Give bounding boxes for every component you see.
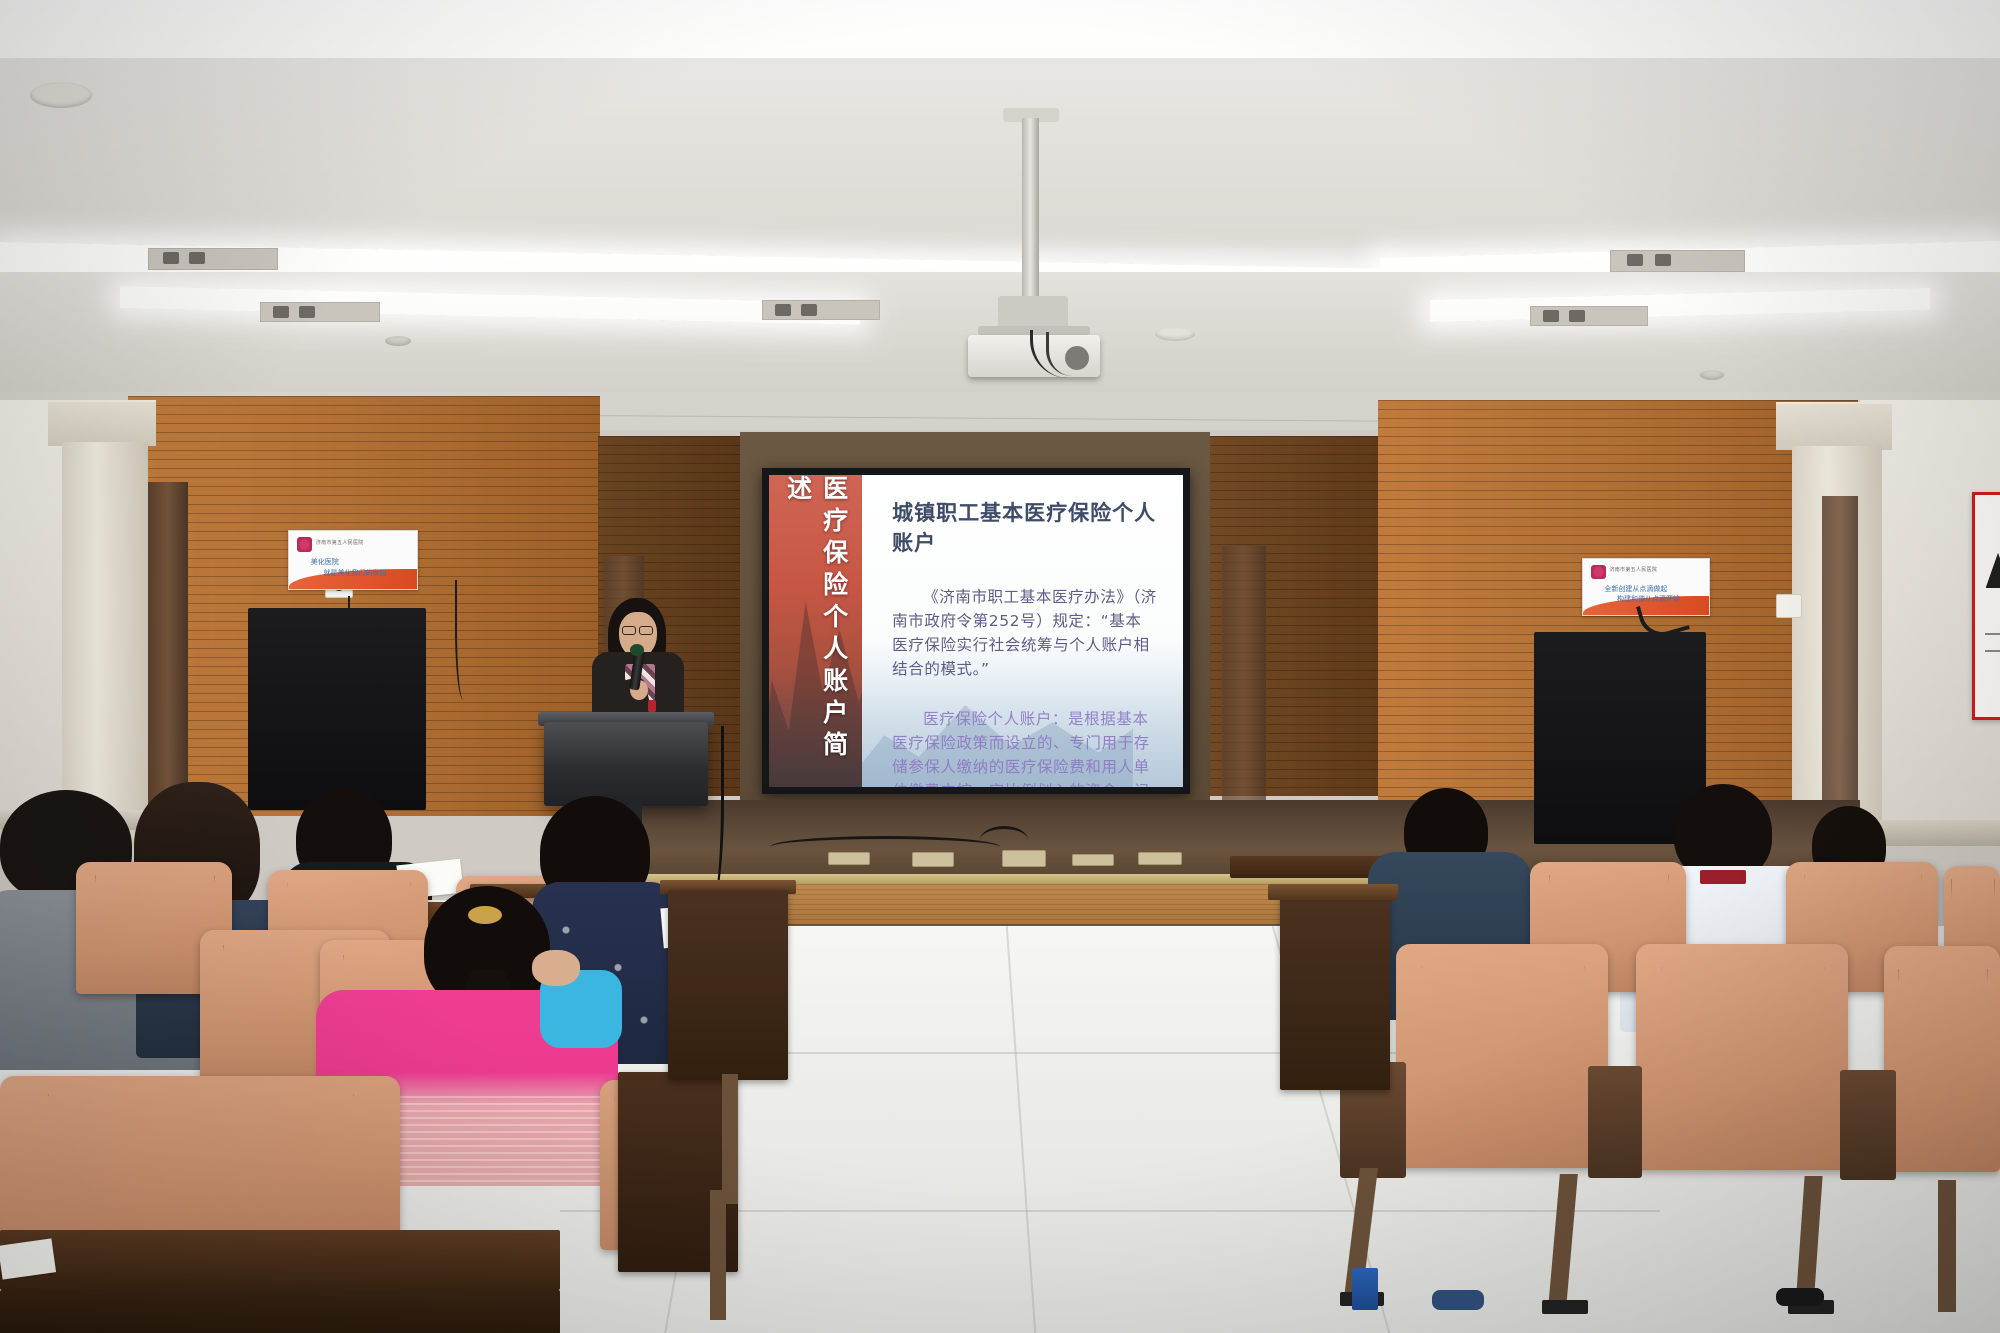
- smoke-detector-left: [30, 82, 92, 108]
- chair-right-front-2-arm: [1588, 1066, 1642, 1178]
- chair-right-front-1[interactable]: [1396, 944, 1608, 1168]
- projector-mount-bracket: [998, 296, 1068, 328]
- wall-outlet-right[interactable]: [1776, 594, 1802, 618]
- poster-text-line-1: [1985, 633, 2000, 635]
- chair-right-front-3[interactable]: [1884, 946, 2000, 1172]
- slide-paragraph-1: 《济南市职工基本医疗办法》（济南市政府令第252号）规定：“基本医疗保险实行社会…: [892, 585, 1157, 681]
- wall-sign-right-org: 济南市第五人民医院: [1609, 566, 1657, 573]
- column-left: [62, 442, 148, 842]
- water-bottle[interactable]: [1352, 1268, 1378, 1310]
- chair-left-front-1[interactable]: [0, 1076, 400, 1256]
- speaker-glasses-right: [639, 626, 653, 635]
- door-recess-right: [1822, 496, 1858, 846]
- wall-sign-left-line2: 就是美化我们的家园: [324, 568, 387, 578]
- chair-right-foot-2: [1542, 1300, 1588, 1314]
- ceiling-slab-1: [0, 58, 2000, 248]
- person-shoe-2: [1776, 1288, 1824, 1306]
- stage-floor-cable-2: [980, 826, 1028, 854]
- ceiling-light-strip-top: [0, 0, 2000, 60]
- desk-center-left: [668, 890, 788, 1080]
- chair-right-front-3-arm: [1840, 1070, 1896, 1180]
- door-center-right: [1222, 546, 1266, 806]
- floor-outlet-4[interactable]: [1072, 854, 1114, 866]
- smoke-detector-center: [1155, 327, 1195, 341]
- wall-sign-right-line1: 全新创建从点滴做起: [1604, 584, 1667, 594]
- projection-screen: 医疗保险个人账户简述 城镇职工基本医疗保险个人账户 《济南市职工基本医疗办法》（…: [762, 468, 1190, 794]
- wall-display-panel-left: [248, 608, 426, 810]
- person-pink-sweater-hand: [532, 950, 580, 986]
- conference-room-photo: 济南市第五人民医院 美化医院 就是美化我们的家园 济南市第五人民医院 全新创建从…: [0, 0, 2000, 1333]
- speaker-glasses-left: [622, 626, 636, 635]
- desk-right-aisle: [1280, 890, 1390, 1090]
- ceiling-downlight-center: [762, 300, 880, 320]
- framed-poster-right: [1972, 492, 2000, 720]
- desk-left-front-edge: [0, 1290, 560, 1333]
- chair-left-front-leg: [710, 1190, 726, 1320]
- wall-sign-left-org: 济南市第五人民医院: [316, 539, 364, 546]
- presentation-slide: 医疗保险个人账户简述 城镇职工基本医疗保险个人账户 《济南市职工基本医疗办法》（…: [769, 475, 1183, 787]
- stage-floor-cable: [770, 836, 1000, 858]
- wall-sign-left: 济南市第五人民医院 美化医院 就是美化我们的家园: [288, 530, 418, 590]
- desk-right-aisle-top: [1268, 884, 1398, 900]
- wall-sign-left-line1: 美化医院: [311, 557, 339, 567]
- microphone-head: [630, 644, 644, 656]
- column-cap-right: [1776, 402, 1892, 450]
- projection-screen-surface: 医疗保险个人账户简述 城镇职工基本医疗保险个人账户 《济南市职工基本医疗办法》（…: [769, 475, 1183, 787]
- chair-right-leg-4: [1938, 1180, 1956, 1312]
- person-white-shirt-lanyard: [1700, 870, 1746, 884]
- wall-cable-podium: [455, 580, 469, 700]
- slide-side-banner-text: 医疗保险个人账户简述: [769, 475, 862, 787]
- floor-outlet-5[interactable]: [1138, 852, 1182, 865]
- ceiling-speaker-2: [1700, 370, 1724, 380]
- ceiling-downlight-right: [1610, 250, 1745, 272]
- desk-center-left-leg: [722, 1074, 738, 1204]
- slide-paragraph-2: 医疗保险个人账户：是根据基本医疗保险政策而设立的、专门用于存储参保人缴纳的医疗保…: [892, 707, 1157, 787]
- slide-content: 城镇职工基本医疗保险个人账户 《济南市职工基本医疗办法》（济南市政府令第252号…: [862, 475, 1183, 787]
- hospital-logo-left: [297, 537, 312, 552]
- poster-text-line-2: [1985, 650, 2000, 652]
- projector-mount-pole: [1022, 118, 1039, 303]
- ceiling-downlight-right2: [1530, 306, 1648, 326]
- ceiling-downlight-left2: [260, 302, 380, 322]
- ceiling-speaker-1: [385, 336, 411, 346]
- hospital-logo-right: [1591, 565, 1606, 580]
- slide-side-banner: 医疗保险个人账户简述: [769, 475, 862, 787]
- person-shoe: [1432, 1290, 1484, 1310]
- podium[interactable]: [544, 722, 708, 806]
- chair-right-front-2[interactable]: [1636, 944, 1848, 1170]
- column-cap-left: [48, 400, 156, 446]
- person-pink-sweater-hair-tie: [468, 906, 502, 924]
- speaker-wristband: [648, 700, 656, 712]
- ceiling-downlight-left: [148, 248, 278, 270]
- poster-graphic: [1986, 553, 2000, 589]
- slide-title: 城镇职工基本医疗保险个人账户: [892, 497, 1157, 557]
- desk-left-front: [0, 1230, 560, 1290]
